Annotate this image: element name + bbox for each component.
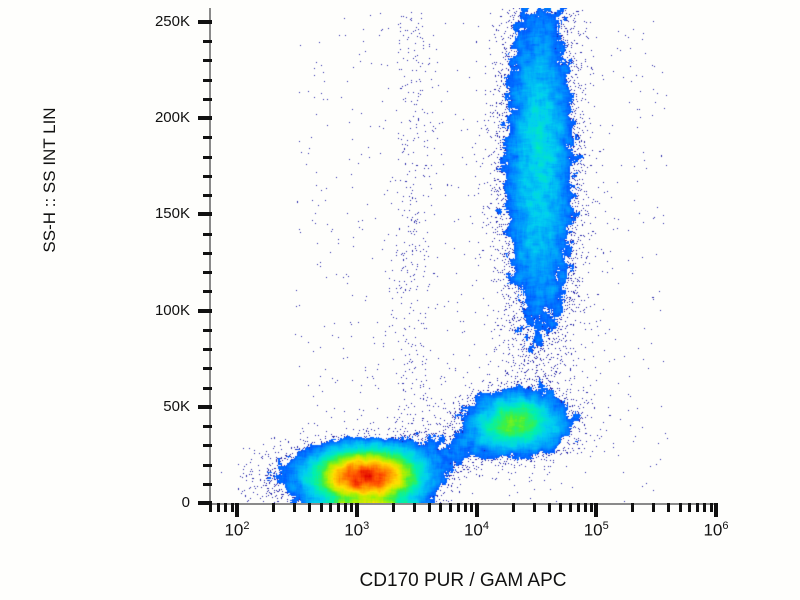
- x-tick-minor: [470, 503, 473, 512]
- y-tick-minor: [203, 444, 212, 447]
- y-tick-minor: [203, 98, 212, 101]
- x-tick-major: [475, 503, 479, 517]
- y-axis-line: [209, 8, 211, 505]
- y-tick-minor: [203, 252, 212, 255]
- x-tick-minor: [679, 503, 682, 512]
- y-tick-label: 100K: [132, 303, 190, 318]
- x-tick-label: 105: [584, 521, 609, 539]
- x-tick-minor: [548, 503, 551, 512]
- y-tick-label: 0: [132, 495, 190, 510]
- y-tick-minor: [203, 156, 212, 159]
- y-tick-major: [198, 20, 212, 24]
- x-tick-minor: [577, 503, 580, 512]
- x-tick-major: [714, 503, 718, 517]
- x-tick-minor: [231, 503, 234, 512]
- x-tick-minor: [209, 503, 212, 512]
- x-tick-minor: [344, 503, 347, 512]
- y-tick-major: [198, 212, 212, 216]
- y-axis-tick-labels: 050K100K150K200K250K: [128, 0, 190, 600]
- y-tick-minor: [203, 40, 212, 43]
- x-tick-minor: [272, 503, 275, 512]
- x-tick-minor: [293, 503, 296, 512]
- x-tick-minor: [533, 503, 536, 512]
- x-tick-major: [355, 503, 359, 517]
- y-axis-title: SS-H :: SS INT LIN: [40, 70, 60, 290]
- y-tick-major: [198, 116, 212, 120]
- scatter-density-canvas: [210, 8, 716, 503]
- x-tick-minor: [688, 503, 691, 512]
- y-tick-major: [198, 405, 212, 409]
- x-tick-minor: [392, 503, 395, 512]
- y-tick-minor: [203, 464, 212, 467]
- y-tick-minor: [203, 79, 212, 82]
- x-axis-title: CD170 PUR / GAM APC: [210, 570, 716, 592]
- x-tick-minor: [308, 503, 311, 512]
- x-tick-minor: [584, 503, 587, 512]
- x-tick-minor: [559, 503, 562, 512]
- x-tick-minor: [512, 503, 515, 512]
- x-tick-minor: [631, 503, 634, 512]
- y-tick-label: 150K: [132, 206, 190, 221]
- x-tick-minor: [413, 503, 416, 512]
- y-tick-minor: [203, 175, 212, 178]
- x-tick-minor: [329, 503, 332, 512]
- y-tick-minor: [203, 425, 212, 428]
- y-tick-minor: [203, 483, 212, 486]
- y-tick-minor: [203, 367, 212, 370]
- x-tick-minor: [428, 503, 431, 512]
- y-tick-label: 250K: [132, 14, 190, 29]
- x-tick-minor: [439, 503, 442, 512]
- x-tick-major: [235, 503, 239, 517]
- x-tick-minor: [569, 503, 572, 512]
- x-tick-minor: [710, 503, 713, 512]
- x-tick-label: 106: [703, 521, 728, 539]
- x-tick-minor: [696, 503, 699, 512]
- x-tick-minor: [449, 503, 452, 512]
- x-tick-minor: [667, 503, 670, 512]
- y-tick-minor: [203, 290, 212, 293]
- y-tick-minor: [203, 271, 212, 274]
- x-tick-minor: [590, 503, 593, 512]
- x-tick-label: 104: [464, 521, 489, 539]
- flow-cytometry-plot: 050K100K150K200K250K 102103104105106 SS-…: [0, 0, 800, 600]
- x-tick-minor: [457, 503, 460, 512]
- x-tick-minor: [224, 503, 227, 512]
- x-tick-minor: [337, 503, 340, 512]
- y-tick-minor: [203, 329, 212, 332]
- x-tick-label: 103: [344, 521, 369, 539]
- x-tick-minor: [464, 503, 467, 512]
- y-tick-minor: [203, 136, 212, 139]
- x-tick-minor: [652, 503, 655, 512]
- plot-area: [210, 8, 716, 503]
- y-tick-label: 50K: [132, 399, 190, 414]
- y-tick-minor: [203, 194, 212, 197]
- x-tick-minor: [217, 503, 220, 512]
- y-tick-minor: [203, 59, 212, 62]
- y-tick-minor: [203, 233, 212, 236]
- x-tick-minor: [350, 503, 353, 512]
- x-tick-minor: [320, 503, 323, 512]
- y-tick-label: 200K: [132, 110, 190, 125]
- y-tick-major: [198, 309, 212, 313]
- y-tick-minor: [203, 348, 212, 351]
- x-tick-major: [594, 503, 598, 517]
- y-tick-minor: [203, 387, 212, 390]
- x-tick-label: 102: [224, 521, 249, 539]
- x-tick-minor: [703, 503, 706, 512]
